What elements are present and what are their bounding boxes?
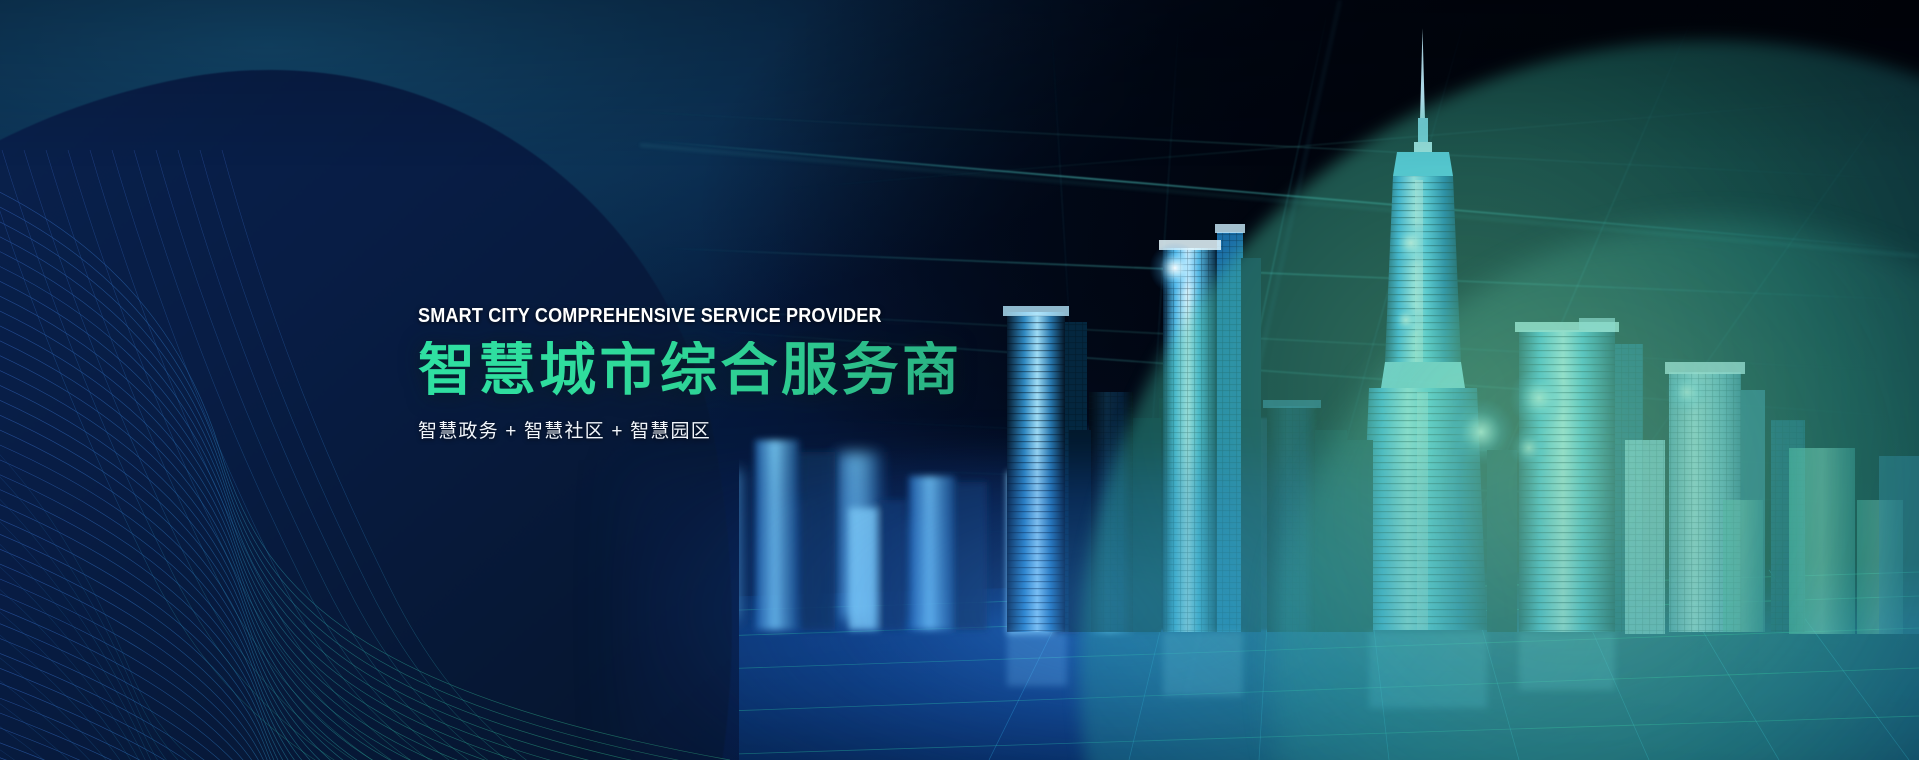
subtitle-text: 智慧政务 + 智慧社区 + 智慧园区 — [418, 416, 1058, 443]
eyebrow-text: SMART CITY COMPREHENSIVE SERVICE PROVIDE… — [418, 306, 981, 327]
page-title: 智慧城市综合服务商 — [418, 341, 1058, 400]
hero-copy-block: SMART CITY COMPREHENSIVE SERVICE PROVIDE… — [418, 306, 1058, 443]
smart-city-hero-banner: SMART CITY COMPREHENSIVE SERVICE PROVIDE… — [0, 0, 1919, 760]
